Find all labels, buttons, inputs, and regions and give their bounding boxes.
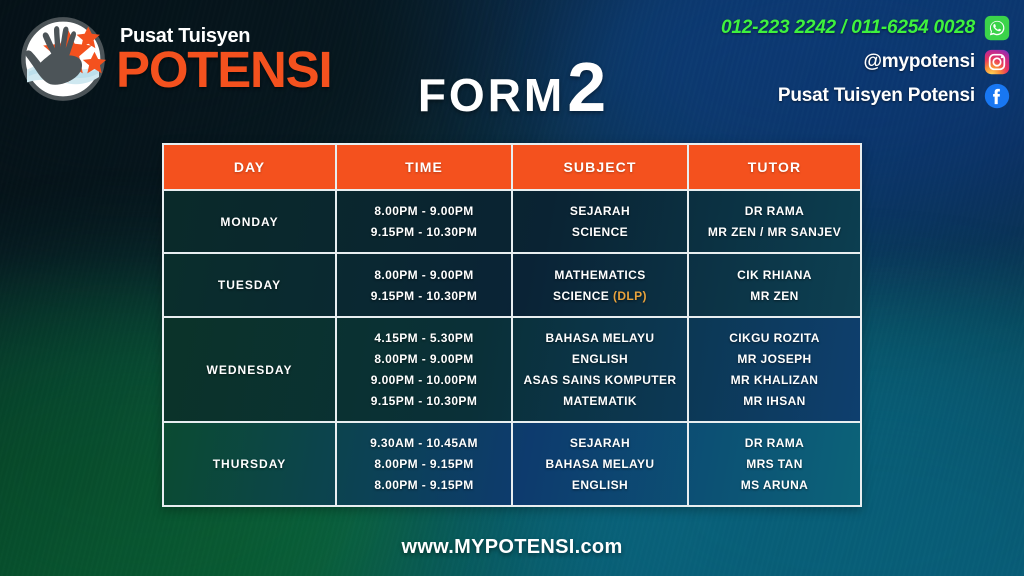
cell-time: 8.00PM - 9.00PM 9.15PM - 10.30PM: [335, 254, 511, 316]
brand-wordmark: Pusat Tuisyen POTENSI: [116, 26, 331, 94]
hand-stars-circle-logo-icon: [18, 14, 108, 104]
header: Pusat Tuisyen POTENSI FORM2 012-223 2242…: [0, 0, 1024, 130]
day-label: TUESDAY: [218, 278, 281, 292]
contact-row-whatsapp[interactable]: 012-223 2242 / 011-6254 0028: [721, 12, 1010, 44]
cell-day: TUESDAY: [164, 254, 335, 316]
time-entry: 9.30AM - 10.45AM: [370, 436, 478, 450]
facebook-icon[interactable]: [984, 83, 1010, 109]
time-entry: 9.15PM - 10.30PM: [371, 394, 477, 408]
time-entry: 9.15PM - 10.30PM: [371, 289, 477, 303]
page-title-word: FORM: [418, 69, 565, 121]
cell-subject: SEJARAH BAHASA MELAYU ENGLISH: [511, 423, 687, 505]
tutor-entry: MR ZEN: [750, 289, 798, 303]
column-header-time: TIME: [335, 145, 511, 189]
cell-time: 8.00PM - 9.00PM 9.15PM - 10.30PM: [335, 191, 511, 252]
brand-logo[interactable]: Pusat Tuisyen POTENSI: [18, 14, 331, 104]
subject-entry: ENGLISH: [572, 352, 628, 366]
time-entry: 8.00PM - 9.00PM: [374, 204, 473, 218]
footer: www.MYPOTENSI.com: [0, 536, 1024, 559]
time-entry: 9.15PM - 10.30PM: [371, 225, 477, 239]
day-label: THURSDAY: [213, 457, 287, 471]
tutor-entry: MS ARUNA: [741, 478, 808, 492]
table-row: WEDNESDAY 4.15PM - 5.30PM 8.00PM - 9.00P…: [164, 316, 860, 421]
cell-day: THURSDAY: [164, 423, 335, 505]
website-url[interactable]: www.MYPOTENSI.com: [401, 536, 622, 558]
dlp-tag: (DLP): [613, 289, 647, 303]
subject-entry: BAHASA MELAYU: [546, 331, 655, 345]
phone-numbers: 012-223 2242 / 011-6254 0028: [721, 17, 975, 39]
cell-subject: MATHEMATICS SCIENCE (DLP): [511, 254, 687, 316]
time-entry: 9.00PM - 10.00PM: [371, 373, 477, 387]
cell-subject: BAHASA MELAYU ENGLISH ASAS SAINS KOMPUTE…: [511, 318, 687, 421]
subject-entry: BAHASA MELAYU: [546, 457, 655, 471]
timetable: DAY TIME SUBJECT TUTOR MONDAY 8.00PM - 9…: [162, 143, 862, 507]
cell-day: MONDAY: [164, 191, 335, 252]
facebook-page-name: Pusat Tuisyen Potensi: [778, 85, 975, 107]
cell-tutor: CIKGU ROZITA MR JOSEPH MR KHALIZAN MR IH…: [687, 318, 860, 421]
time-entry: 8.00PM - 9.15PM: [374, 478, 473, 492]
tutor-entry: DR RAMA: [745, 204, 804, 218]
subject-entry: SCIENCE: [572, 225, 628, 239]
time-entry: 8.00PM - 9.00PM: [374, 352, 473, 366]
tutor-entry: MR IHSAN: [743, 394, 806, 408]
tutor-entry: MR ZEN / MR SANJEV: [708, 225, 841, 239]
cell-subject: SEJARAH SCIENCE: [511, 191, 687, 252]
subject-entry: SCIENCE (DLP): [553, 289, 647, 303]
table-row: THURSDAY 9.30AM - 10.45AM 8.00PM - 9.15P…: [164, 421, 860, 505]
page-title-number: 2: [567, 48, 606, 126]
column-header-time-label: TIME: [405, 159, 443, 175]
tutor-entry: MR JOSEPH: [737, 352, 811, 366]
column-header-tutor: TUTOR: [687, 145, 860, 189]
tutor-entry: MRS TAN: [746, 457, 803, 471]
instagram-icon[interactable]: [984, 49, 1010, 75]
brand-name: POTENSI: [116, 47, 331, 94]
instagram-handle: @mypotensi: [863, 51, 975, 73]
whatsapp-icon[interactable]: [984, 15, 1010, 41]
cell-tutor: CIK RHIANA MR ZEN: [687, 254, 860, 316]
tutor-entry: CIKGU ROZITA: [729, 331, 820, 345]
column-header-subject: SUBJECT: [511, 145, 687, 189]
contact-block: 012-223 2242 / 011-6254 0028 @mypotensi: [721, 12, 1010, 114]
tutor-entry: CIK RHIANA: [737, 268, 812, 282]
timetable-header-row: DAY TIME SUBJECT TUTOR: [164, 145, 860, 189]
cell-tutor: DR RAMA MRS TAN MS ARUNA: [687, 423, 860, 505]
time-entry: 8.00PM - 9.00PM: [374, 268, 473, 282]
subject-entry: ASAS SAINS KOMPUTER: [524, 373, 677, 387]
time-entry: 8.00PM - 9.15PM: [374, 457, 473, 471]
table-row: MONDAY 8.00PM - 9.00PM 9.15PM - 10.30PM …: [164, 189, 860, 252]
time-entry: 4.15PM - 5.30PM: [374, 331, 473, 345]
contact-row-instagram[interactable]: @mypotensi: [721, 46, 1010, 78]
column-header-tutor-label: TUTOR: [748, 159, 801, 175]
contact-row-facebook[interactable]: Pusat Tuisyen Potensi: [721, 80, 1010, 112]
subject-entry: SEJARAH: [570, 204, 630, 218]
subject-entry: MATHEMATICS: [554, 268, 645, 282]
day-label: MONDAY: [220, 215, 278, 229]
column-header-day-label: DAY: [234, 159, 265, 175]
subject-entry: ENGLISH: [572, 478, 628, 492]
cell-time: 4.15PM - 5.30PM 8.00PM - 9.00PM 9.00PM -…: [335, 318, 511, 421]
day-label: WEDNESDAY: [207, 363, 293, 377]
cell-time: 9.30AM - 10.45AM 8.00PM - 9.15PM 8.00PM …: [335, 423, 511, 505]
subject-entry: SEJARAH: [570, 436, 630, 450]
subject-entry: MATEMATIK: [563, 394, 637, 408]
column-header-day: DAY: [164, 145, 335, 189]
column-header-subject-label: SUBJECT: [563, 159, 636, 175]
tutor-entry: DR RAMA: [745, 436, 804, 450]
cell-tutor: DR RAMA MR ZEN / MR SANJEV: [687, 191, 860, 252]
subject-entry-text: SCIENCE: [553, 289, 609, 303]
cell-day: WEDNESDAY: [164, 318, 335, 421]
table-row: TUESDAY 8.00PM - 9.00PM 9.15PM - 10.30PM…: [164, 252, 860, 316]
tutor-entry: MR KHALIZAN: [731, 373, 819, 387]
